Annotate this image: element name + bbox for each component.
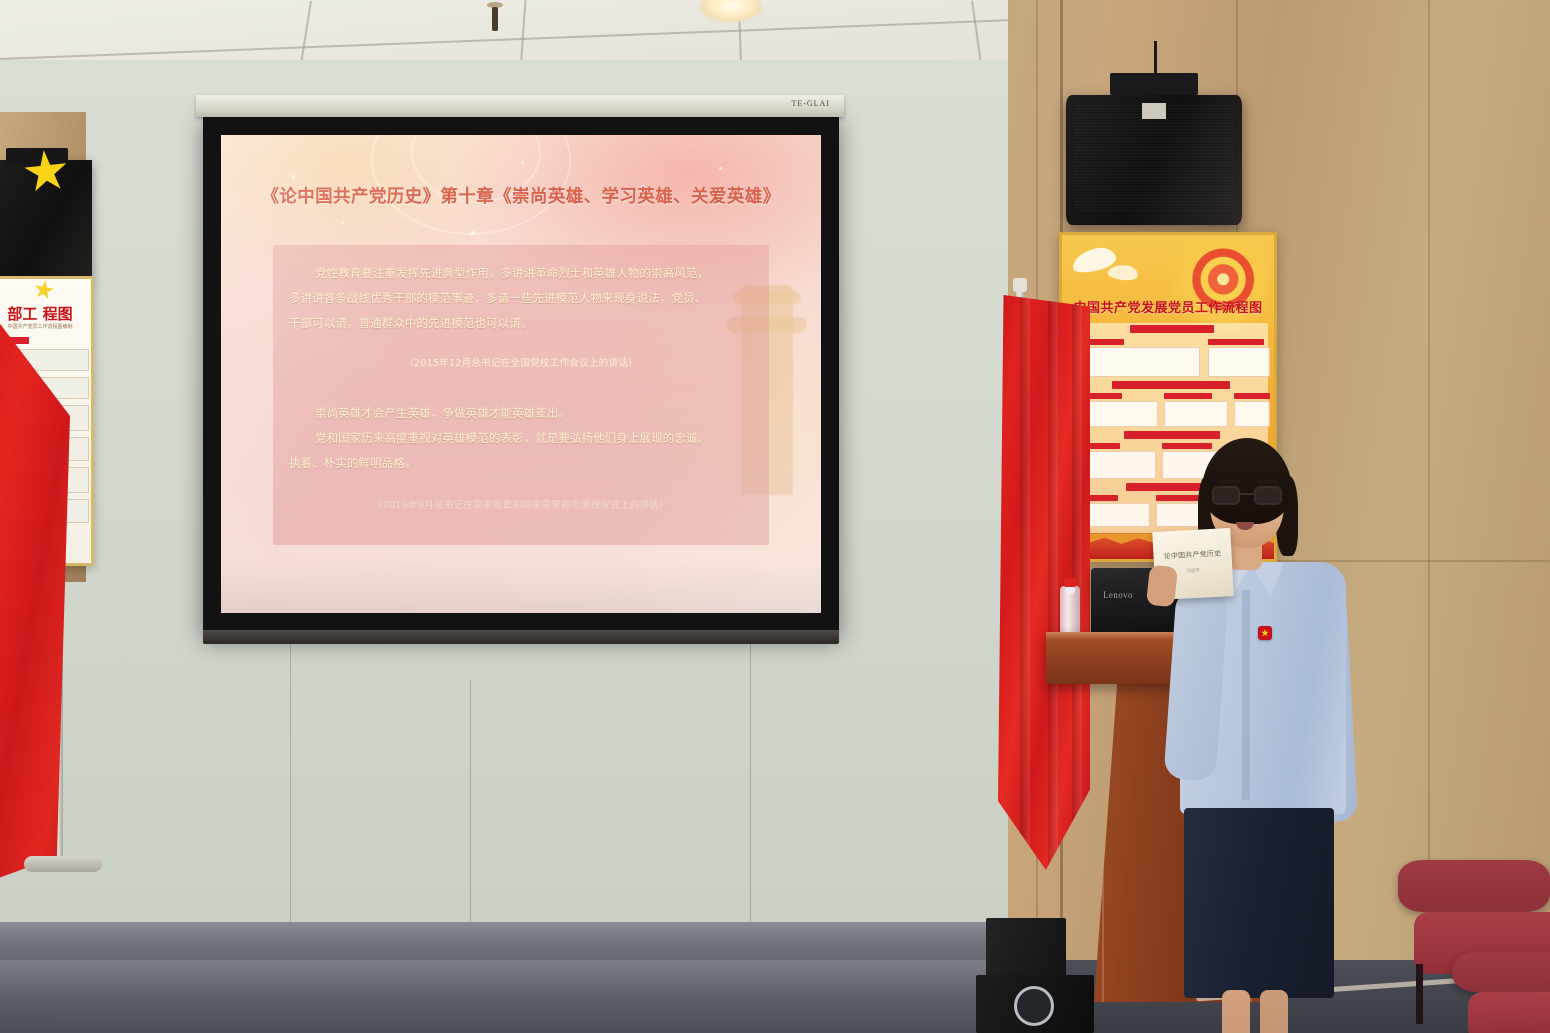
slide-paragraph-line: 多讲讲各条战线优秀干部的模范事迹，多请一些先进模范人物来现身说法，党员、 [289, 286, 753, 311]
speaker-box-top [986, 918, 1066, 978]
leg-left [1222, 990, 1250, 1033]
laptop-brand-label: Lenovo [1103, 590, 1133, 600]
slide-citation: （2015年12月总书记在全国党校工作会议上的讲话） [273, 355, 769, 369]
sunburst-graphic [1150, 239, 1268, 335]
slide-paragraph-line: 党和国家历来高度重视对英雄模范的表彰，就是要弘扬他们身上展现的忠诚、 [289, 426, 753, 451]
eyeglasses-icon [1212, 486, 1282, 506]
projection-screen-housing: TE-GLAI [196, 95, 844, 117]
poster-left-subtitle: 中国共产党员工作流程图编制 [0, 323, 91, 330]
slide-paragraph-line: 执着、朴实的鲜明品格。 [289, 451, 753, 476]
dove-icon [1107, 263, 1139, 282]
screen-bottom-bar [203, 630, 839, 644]
flag-stand-base [24, 856, 102, 872]
water-bottle [1060, 586, 1080, 638]
party-emblem-pin-icon [1258, 626, 1272, 640]
book-title: 论中国共产党历史 [1153, 548, 1231, 562]
flagpole-finial [1013, 278, 1027, 292]
chinese-national-flag [998, 295, 1090, 870]
skirt [1184, 808, 1334, 998]
slide-paragraph-line: 干部可以请，普通群众中的先进模范也可以请。 [289, 311, 753, 336]
slide-text-panel: 党性教育要注重发挥先进典型作用，多讲讲革命烈士和英雄人物的崇高风范， 多讲讲各条… [273, 245, 769, 545]
wall-speaker-right [1066, 95, 1242, 225]
fire-sprinkler-icon [487, 2, 503, 32]
poster-right-title: 中国共产党发展党员工作流程图 [1062, 297, 1274, 316]
poster-left-title: 部工 程图 [0, 303, 91, 324]
hand-holding-book [1146, 565, 1178, 608]
conference-room-photo: TE-GLAI 《论中国共产党历史》第十章《崇尚英雄、学习英雄、关爱英雄》 党性… [0, 0, 1550, 1033]
leg-right [1260, 990, 1288, 1033]
slide-paragraph-line: 崇尚英雄才会产生英雄，争做英雄才能英雄辈出。 [289, 401, 753, 426]
screen-brand-label: TE-GLAI [791, 99, 830, 108]
carpet-floor [0, 960, 1008, 1033]
slide-paragraph-line: 党性教育要注重发挥先进典型作用，多讲讲革命烈士和英雄人物的崇高风范， [289, 261, 753, 286]
speaker-driver-icon [1014, 986, 1054, 1026]
slide-title: 《论中国共产党历史》第十章《崇尚英雄、学习英雄、关爱英雄》 [221, 183, 821, 208]
projection-screen: 《论中国共产党历史》第十章《崇尚英雄、学习英雄、关爱英雄》 党性教育要注重发挥先… [203, 113, 839, 635]
slide-citation: （2019年9月总书记在国家勋章和国家荣誉称号颁授仪式上的讲话） [273, 497, 769, 511]
slide-canvas: 《论中国共产党历史》第十章《崇尚英雄、学习英雄、关爱英雄》 党性教育要注重发挥先… [221, 135, 821, 613]
